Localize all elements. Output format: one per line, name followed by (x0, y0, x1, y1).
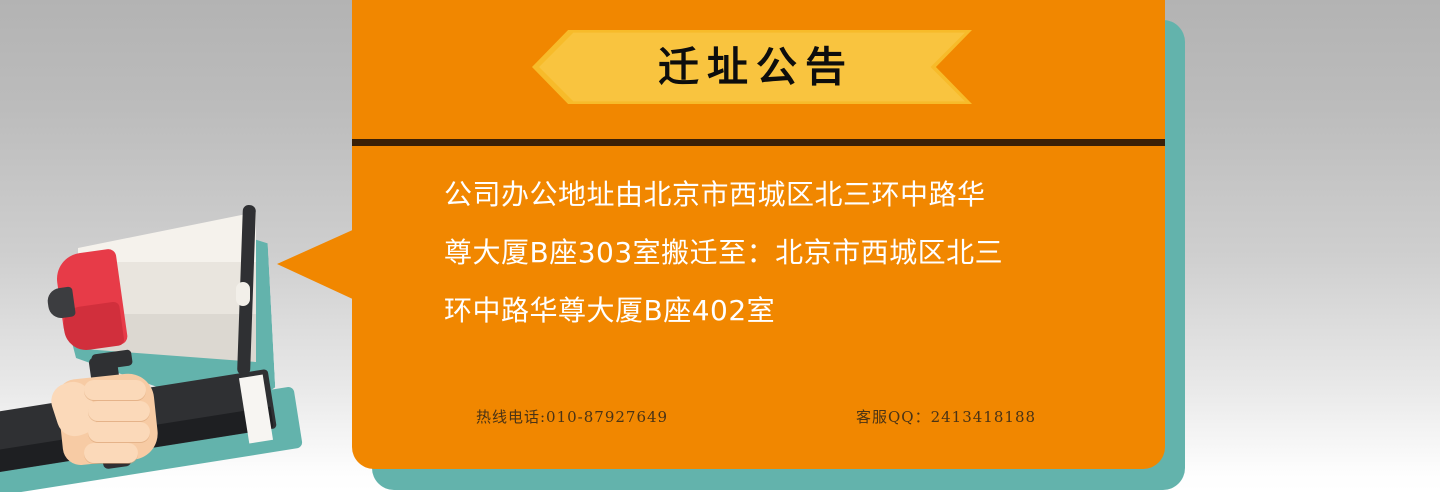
body-line: 环中路华尊大厦B座402室 (444, 282, 1094, 340)
title-ribbon: 迁址公告 (532, 30, 972, 104)
speech-bubble-tail (277, 228, 357, 301)
hand-finger (84, 443, 138, 463)
hand-finger (84, 380, 146, 400)
contact-footer: 热线电话:010-87927649 客服QQ：2413418188 (352, 406, 1165, 427)
megaphone-back-knob (46, 286, 76, 319)
hand-finger (88, 422, 150, 442)
service-qq: 客服QQ：2413418188 (856, 406, 1036, 427)
page-title: 迁址公告 (532, 30, 972, 104)
announcement-card: 迁址公告 公司办公地址由北京市西城区北三环中路华 尊大厦B座303室搬迁至：北京… (352, 0, 1165, 469)
body-line: 尊大厦B座303室搬迁至：北京市西城区北三 (444, 224, 1094, 282)
announcement-body: 公司办公地址由北京市西城区北三环中路华 尊大厦B座303室搬迁至：北京市西城区北… (444, 166, 1094, 340)
announcement-banner: 迁址公告 公司办公地址由北京市西城区北三环中路华 尊大厦B座303室搬迁至：北京… (0, 0, 1440, 492)
hotline-phone: 热线电话:010-87927649 (476, 406, 856, 427)
title-divider (352, 139, 1165, 146)
megaphone-rim-highlight (236, 282, 250, 306)
hand-finger (88, 401, 150, 421)
body-line: 公司办公地址由北京市西城区北三环中路华 (444, 166, 1094, 224)
